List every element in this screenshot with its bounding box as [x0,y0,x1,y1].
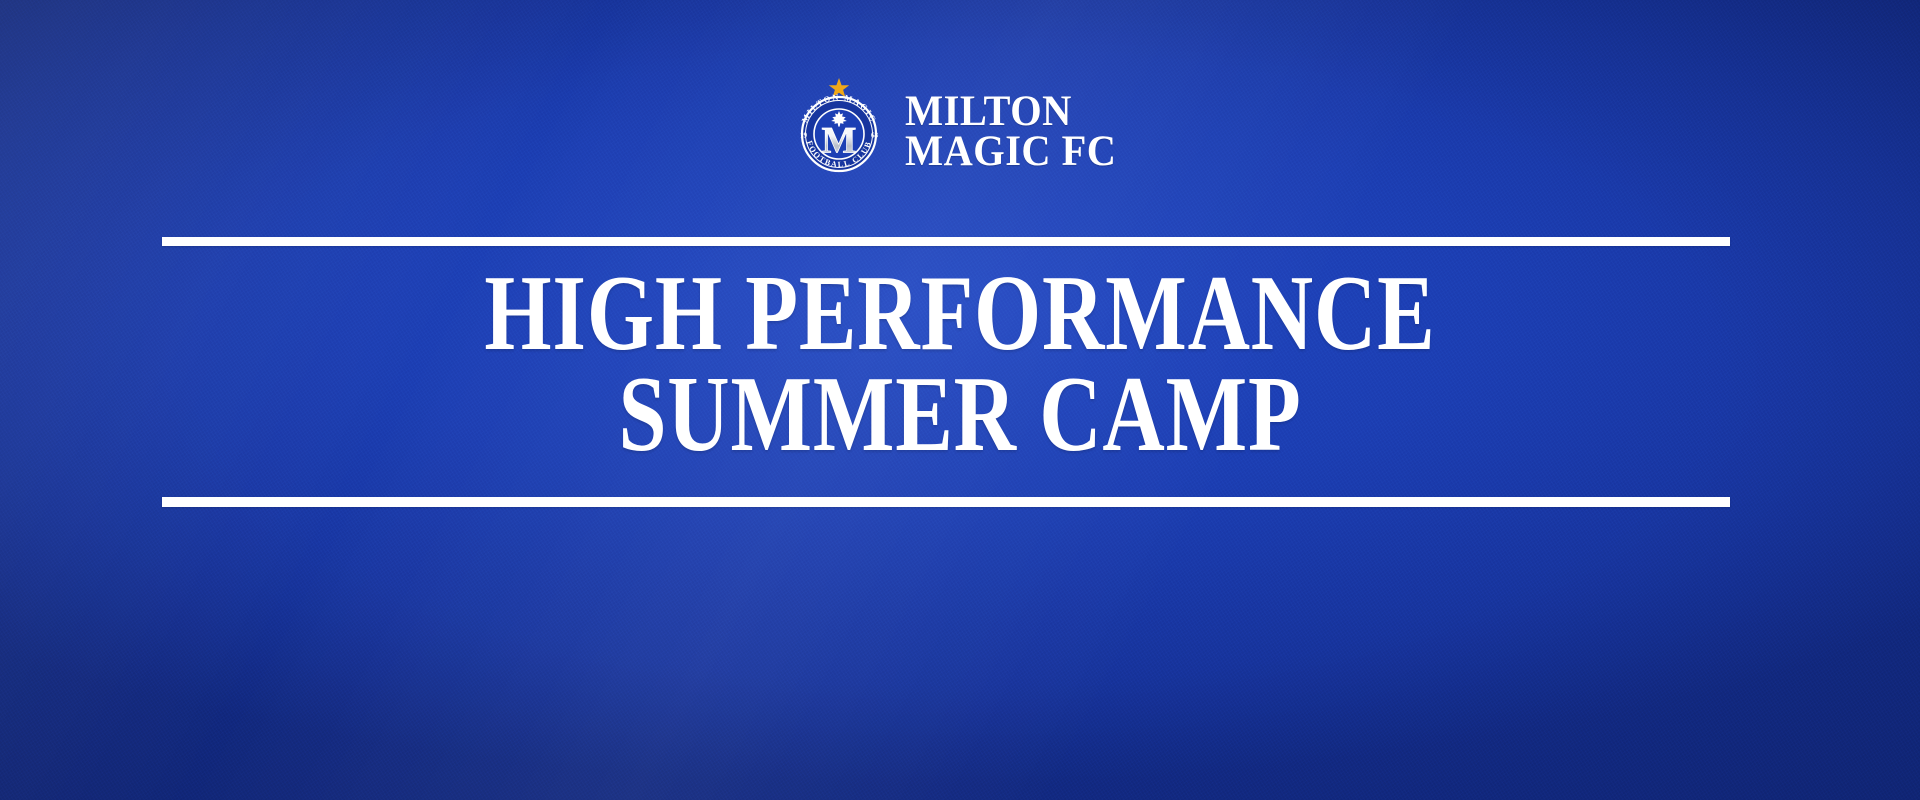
headline-line-2: SUMMER CAMP [192,363,1728,468]
banner-content: MILTON MAGIC FOOTBALL CLUB 19 68 M [0,0,1920,800]
club-logo-lockup[interactable]: MILTON MAGIC FOOTBALL CLUB 19 68 M [0,76,1920,182]
headline-line-1: HIGH PERFORMANCE [192,262,1728,367]
wordmark-line-2: MAGIC FC [905,132,1116,172]
club-crest[interactable]: MILTON MAGIC FOOTBALL CLUB 19 68 M [791,76,887,182]
crest-year-left: 19 [800,132,808,140]
headline-block: HIGH PERFORMANCE SUMMER CAMP [0,262,1920,468]
crest-year-right: 68 [871,132,879,140]
club-wordmark: MILTON MAGIC FC [905,92,1130,171]
wordmark-line-1: MILTON [905,92,1116,132]
horizontal-rule-bottom [162,497,1730,507]
crest-monogram: M [821,121,856,162]
promo-banner: MILTON MAGIC FOOTBALL CLUB 19 68 M [0,0,1920,800]
horizontal-rule-top [162,237,1730,246]
crest-svg: MILTON MAGIC FOOTBALL CLUB 19 68 M [791,76,887,182]
